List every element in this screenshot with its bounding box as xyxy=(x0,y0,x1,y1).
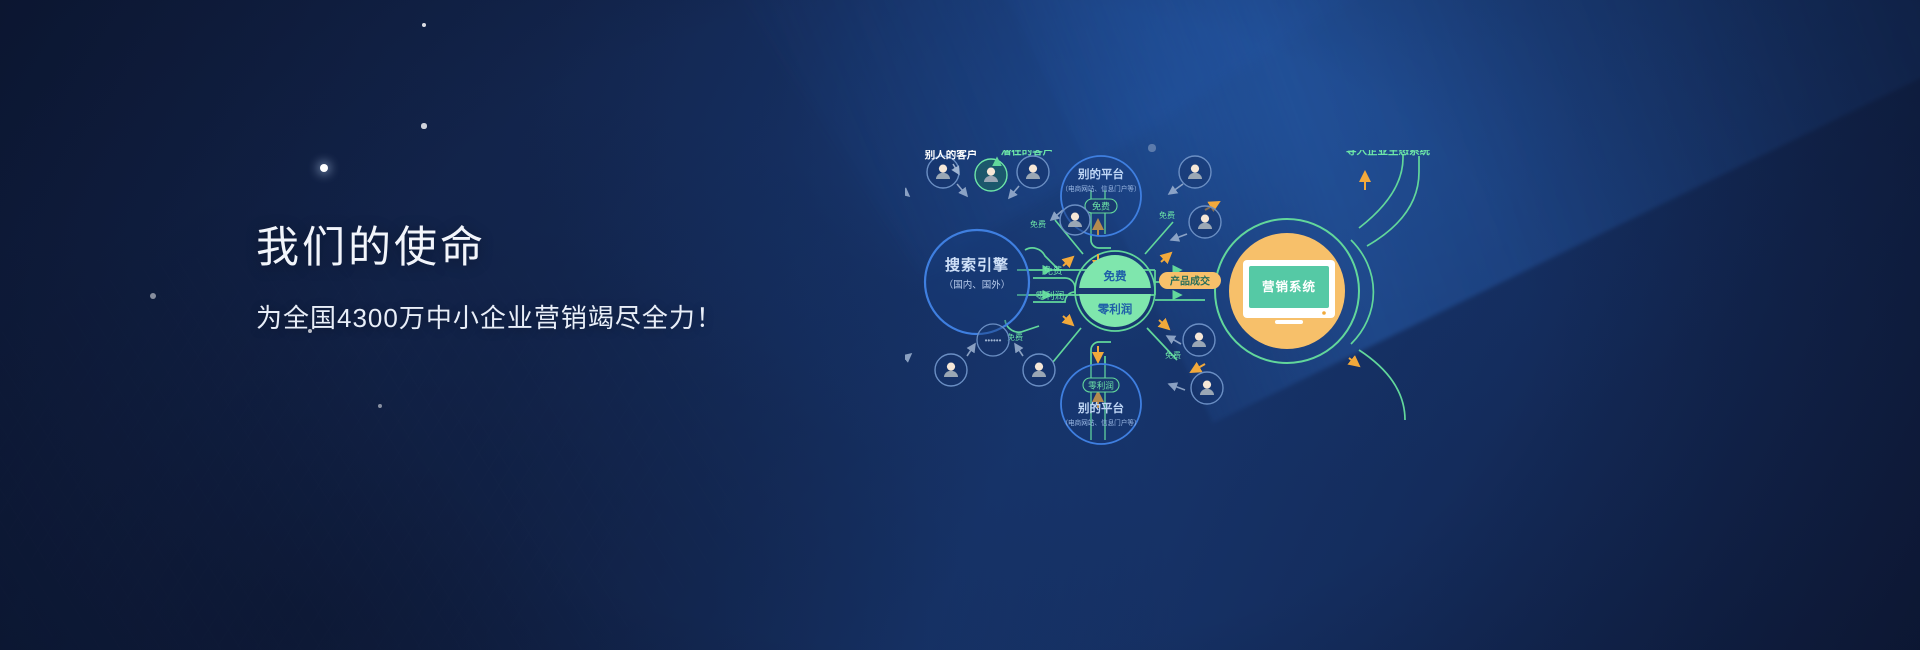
platform-bottom-tag: 零利润 xyxy=(1083,378,1119,392)
svg-text:免费: 免费 xyxy=(1043,265,1062,277)
svg-text:••••••: •••••• xyxy=(985,336,1002,345)
svg-text:产品成交: 产品成交 xyxy=(1170,275,1210,288)
hub-bottom-label: 零利润 xyxy=(1097,302,1133,316)
label-others-customers: 别人的客户 xyxy=(924,150,978,161)
search-engine-title: 搜索引擎 xyxy=(945,256,1009,274)
marketing-system-title: 营销系统 xyxy=(1262,279,1316,294)
platform-top-tag: 免费 xyxy=(1085,199,1117,213)
label-potential-customers: 潜在的客户 xyxy=(1001,150,1054,157)
decorative-dot xyxy=(422,23,426,27)
svg-text:免费: 免费 xyxy=(1165,350,1181,360)
hero-copy: 我们的使命 为全国4300万中小企业营销竭尽全力！ xyxy=(256,222,723,336)
edge-tag-free-4: 免费 xyxy=(1165,350,1181,360)
label-import-ecosystem: 导入企业生态系统 xyxy=(1346,150,1430,157)
edge-tag-free-1: 免费 xyxy=(1030,219,1046,229)
page-title: 我们的使命 xyxy=(256,222,723,276)
hub-top-label: 免费 xyxy=(1104,269,1127,283)
search-engine-subtitle: （国内、国外） xyxy=(944,279,1011,291)
deal-pill: 产品成交 xyxy=(1159,272,1221,289)
marketing-ecosystem-diagram: 搜索引擎 （国内、国外） 别的平台 （电商网站、信息门户等） 免费 零利润 别的… xyxy=(905,150,1545,480)
flow-tag-free: 免费 xyxy=(1043,265,1062,277)
edge-tag-free-3: 免费 xyxy=(1159,210,1175,220)
platform-top-subtitle: （电商网站、信息门户等） xyxy=(1061,184,1140,193)
decorative-dot xyxy=(421,123,426,128)
hero-banner: 我们的使命 为全国4300万中小企业营销竭尽全力！ xyxy=(0,0,1920,650)
flow-tag-zero-profit: 零利润 xyxy=(1036,290,1065,302)
svg-text:免费: 免费 xyxy=(1030,219,1046,229)
platform-top-title: 别的平台 xyxy=(1077,167,1124,181)
hero-subtitle: 为全国4300万中小企业营销竭尽全力！ xyxy=(256,300,723,336)
ellipsis-node: •••••• xyxy=(977,324,1009,356)
svg-text:免费: 免费 xyxy=(1092,201,1110,212)
svg-text:免费: 免费 xyxy=(1159,210,1175,220)
decorative-dot xyxy=(378,404,382,408)
decorative-dot xyxy=(150,293,156,299)
svg-text:零利润: 零利润 xyxy=(1088,380,1114,391)
svg-text:零利润: 零利润 xyxy=(1036,290,1065,302)
hub-node: 免费 零利润 xyxy=(1079,255,1151,327)
decorative-dot xyxy=(320,164,328,172)
platform-bottom-title: 别的平台 xyxy=(1077,401,1124,415)
platform-bottom-subtitle: （电商网站、信息门户等） xyxy=(1061,418,1140,427)
marketing-system-node: 营销系统 xyxy=(1229,233,1345,349)
